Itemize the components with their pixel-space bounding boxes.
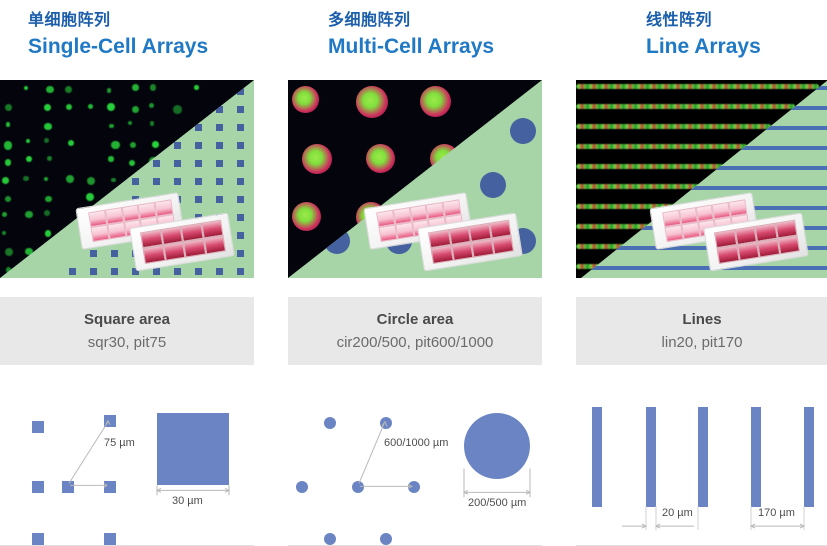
array-square — [62, 481, 74, 493]
culture-well — [163, 242, 186, 261]
image-row — [0, 80, 827, 278]
feature-size-square — [157, 413, 229, 485]
fluorescent-cell — [4, 141, 13, 150]
array-comparison-figure: 单细胞阵列 Single-Cell Arrays 多细胞阵列 Multi-Cel… — [0, 0, 827, 546]
schematic-square — [174, 142, 181, 149]
schematic-stripe — [576, 266, 827, 270]
title-cn-single-cell: 单细胞阵列 — [28, 10, 254, 32]
culture-well — [451, 242, 474, 261]
fluorescent-cell — [47, 156, 52, 161]
fluorescent-cell — [26, 139, 30, 143]
title-en-line: Line Arrays — [646, 32, 827, 62]
schematic-square — [216, 178, 223, 185]
image-panel-multi-cell — [288, 80, 542, 278]
fluorescent-cell — [173, 105, 182, 114]
composite-image-line — [576, 80, 827, 278]
caption-subtitle-multi-cell: cir200/500, pit600/1000 — [337, 334, 494, 351]
schematic-square — [153, 178, 160, 185]
line-pitch-label: 170 µm — [758, 507, 795, 519]
array-circle — [380, 417, 392, 429]
fluorescent-cell — [2, 231, 6, 235]
title-block-multi-cell: 多细胞阵列 Multi-Cell Arrays — [288, 0, 542, 80]
schematic-square — [237, 232, 244, 239]
fluorescent-cell — [149, 103, 154, 108]
title-block-line: 线性阵列 Line Arrays — [576, 0, 827, 80]
culture-well — [183, 239, 206, 258]
culture-well — [777, 235, 800, 254]
culture-well — [142, 245, 165, 264]
schematic-circle-array: 600/1000 µm 200/500 µm — [288, 385, 542, 546]
fluorescent-cell — [44, 104, 51, 111]
array-square — [104, 533, 116, 545]
fluorescent-cell — [44, 210, 50, 216]
schematic-square — [132, 178, 139, 185]
cell-line — [576, 84, 819, 89]
fluorescent-cell — [109, 124, 114, 129]
culture-well — [757, 239, 780, 258]
fluorescent-cell — [66, 104, 72, 110]
fluorescent-cell — [132, 84, 139, 91]
caption-subtitle-single-cell: sqr30, pit75 — [88, 334, 166, 351]
fluorescent-cell — [150, 121, 155, 126]
column-single-cell: 单细胞阵列 Single-Cell Arrays — [0, 0, 254, 80]
schematic-square — [237, 106, 244, 113]
schematic-square — [195, 178, 202, 185]
fluorescent-cell — [45, 196, 52, 203]
fluorescent-cell — [129, 160, 135, 166]
cell-line — [576, 144, 747, 149]
cell-colony — [366, 144, 395, 173]
culture-well — [471, 239, 494, 258]
line-width-label: 20 µm — [662, 507, 693, 519]
schematic-square — [153, 160, 160, 167]
spacer — [0, 278, 254, 297]
spacer — [288, 278, 542, 297]
cell-line — [576, 164, 723, 169]
fluorescent-cell — [25, 211, 32, 218]
pitch-label-circle: 600/1000 µm — [384, 437, 448, 449]
fluorescent-cell — [24, 86, 28, 90]
schematic-square — [237, 178, 244, 185]
schematic-square — [90, 268, 97, 275]
title-cn-multi-cell: 多细胞阵列 — [328, 10, 542, 32]
fluorescent-cell — [88, 104, 93, 109]
schematic-square — [237, 160, 244, 167]
culture-well — [203, 235, 226, 254]
fluorescent-cell — [44, 138, 50, 144]
array-square — [32, 533, 44, 545]
fluorescent-cell — [5, 196, 11, 202]
culture-well — [737, 242, 760, 261]
schematic-square — [195, 142, 202, 149]
size-label-square: 30 µm — [172, 495, 203, 507]
caption-panel-line: Lines lin20, pit170 — [576, 297, 827, 365]
fluorescent-cell — [2, 177, 9, 184]
fluorescent-cell — [5, 159, 11, 165]
diagram-panel-single-cell: 75 µm 30 µm — [0, 385, 254, 546]
fluorescent-cell — [194, 85, 198, 89]
schematic-square — [111, 268, 118, 275]
cell-line — [576, 124, 771, 129]
cell-line — [576, 104, 795, 109]
cell-colony — [292, 86, 319, 113]
image-panel-line — [576, 80, 827, 278]
array-circle — [352, 481, 364, 493]
schematic-square — [153, 268, 160, 275]
spacer — [576, 278, 827, 297]
schematic-square — [237, 250, 244, 257]
array-square — [32, 421, 44, 433]
schematic-square — [237, 268, 244, 275]
fluorescent-cell — [68, 140, 75, 147]
schematic-square — [237, 124, 244, 131]
caption-title-multi-cell: Circle area — [377, 311, 454, 328]
cell-colony — [356, 86, 388, 118]
schematic-square — [216, 142, 223, 149]
caption-panel-single-cell: Square area sqr30, pit75 — [0, 297, 254, 365]
fluorescent-cell — [5, 104, 12, 111]
array-circle — [324, 417, 336, 429]
cell-line — [576, 224, 651, 229]
array-circle — [324, 533, 336, 545]
pitch-label-square: 75 µm — [104, 437, 135, 449]
schematic-square — [174, 268, 181, 275]
schematic-square — [237, 142, 244, 149]
schematic-circle — [480, 172, 506, 198]
fluorescent-cell — [130, 142, 136, 148]
fluorescent-cell — [111, 141, 120, 150]
array-line — [646, 407, 656, 507]
fluorescent-cell — [87, 177, 96, 186]
cell-colony — [292, 202, 321, 231]
culture-well — [716, 245, 739, 264]
fluorescent-cell — [26, 156, 32, 162]
fluorescent-cell — [86, 193, 94, 201]
diagram-panel-line: 20 µm 170 µm — [576, 385, 827, 546]
array-square — [32, 481, 44, 493]
array-square — [104, 415, 116, 427]
fluorescent-cell — [5, 248, 13, 256]
caption-row: Square area sqr30, pit75 Circle area cir… — [0, 297, 827, 365]
schematic-line-array: 20 µm 170 µm — [576, 385, 827, 546]
title-en-multi-cell: Multi-Cell Arrays — [328, 32, 542, 62]
schematic-square — [195, 268, 202, 275]
array-square — [104, 481, 116, 493]
array-line — [698, 407, 708, 507]
schematic-square — [195, 160, 202, 167]
fluorescent-cell — [65, 86, 72, 93]
diagram-panel-multi-cell: 600/1000 µm 200/500 µm — [288, 385, 542, 546]
fluorescent-cell — [6, 122, 11, 127]
fluorescent-cell — [2, 212, 7, 217]
cell-colony — [420, 86, 451, 117]
title-cn-line: 线性阵列 — [646, 10, 827, 32]
column-line: 线性阵列 Line Arrays — [576, 0, 827, 80]
fluorescent-cell — [107, 88, 112, 93]
schematic-square — [216, 124, 223, 131]
schematic-square-array: 75 µm 30 µm — [0, 385, 254, 546]
fluorescent-cell — [107, 103, 115, 111]
culture-well — [491, 235, 514, 254]
diagram-spacer-row — [0, 365, 827, 385]
fluorescent-cell — [111, 178, 115, 182]
title-block-single-cell: 单细胞阵列 Single-Cell Arrays — [0, 0, 254, 80]
fluorescent-cell — [46, 86, 54, 94]
spacer — [576, 365, 827, 385]
fluorescent-cell — [150, 84, 156, 90]
culture-well — [430, 245, 453, 264]
fluorescent-cell — [132, 106, 139, 113]
fluorescent-cell — [44, 123, 51, 130]
fluorescent-cell — [66, 175, 74, 183]
array-line — [751, 407, 761, 507]
fluorescent-cell — [128, 121, 132, 125]
schematic-square — [216, 196, 223, 203]
array-circle — [408, 481, 420, 493]
schematic-square — [237, 196, 244, 203]
column-multi-cell: 多细胞阵列 Multi-Cell Arrays — [288, 0, 542, 80]
size-label-circle: 200/500 µm — [468, 497, 526, 509]
schematic-square — [195, 196, 202, 203]
array-line — [592, 407, 602, 507]
caption-subtitle-line: lin20, pit170 — [662, 334, 743, 351]
title-en-single-cell: Single-Cell Arrays — [28, 32, 254, 62]
cell-colony — [302, 144, 332, 174]
diagram-row: 75 µm 30 µm — [0, 385, 827, 546]
spacer — [0, 365, 254, 385]
caption-spacer-row — [0, 278, 827, 297]
titles-row: 单细胞阵列 Single-Cell Arrays 多细胞阵列 Multi-Cel… — [0, 0, 827, 80]
fluorescent-cell — [23, 176, 29, 182]
feature-size-circle — [464, 413, 530, 479]
cell-line — [576, 184, 699, 189]
composite-image-single-cell — [0, 80, 254, 278]
schematic-square — [237, 214, 244, 221]
caption-title-single-cell: Square area — [84, 311, 170, 328]
schematic-square — [216, 268, 223, 275]
fluorescent-cell — [108, 156, 113, 161]
caption-title-line: Lines — [682, 311, 721, 328]
spacer — [288, 365, 542, 385]
array-circle — [296, 481, 308, 493]
fluorescent-cell — [44, 177, 48, 181]
schematic-square — [174, 178, 181, 185]
array-circle — [380, 533, 392, 545]
schematic-square — [69, 268, 76, 275]
fluorescent-cell — [45, 230, 52, 237]
schematic-square — [90, 250, 97, 257]
array-line — [804, 407, 814, 507]
fluorescent-cell — [152, 141, 159, 148]
schematic-square — [216, 160, 223, 167]
schematic-square — [174, 160, 181, 167]
composite-image-multi-cell — [288, 80, 542, 278]
schematic-circle — [510, 118, 536, 144]
caption-panel-multi-cell: Circle area cir200/500, pit600/1000 — [288, 297, 542, 365]
image-panel-single-cell — [0, 80, 254, 278]
schematic-square — [111, 250, 118, 257]
